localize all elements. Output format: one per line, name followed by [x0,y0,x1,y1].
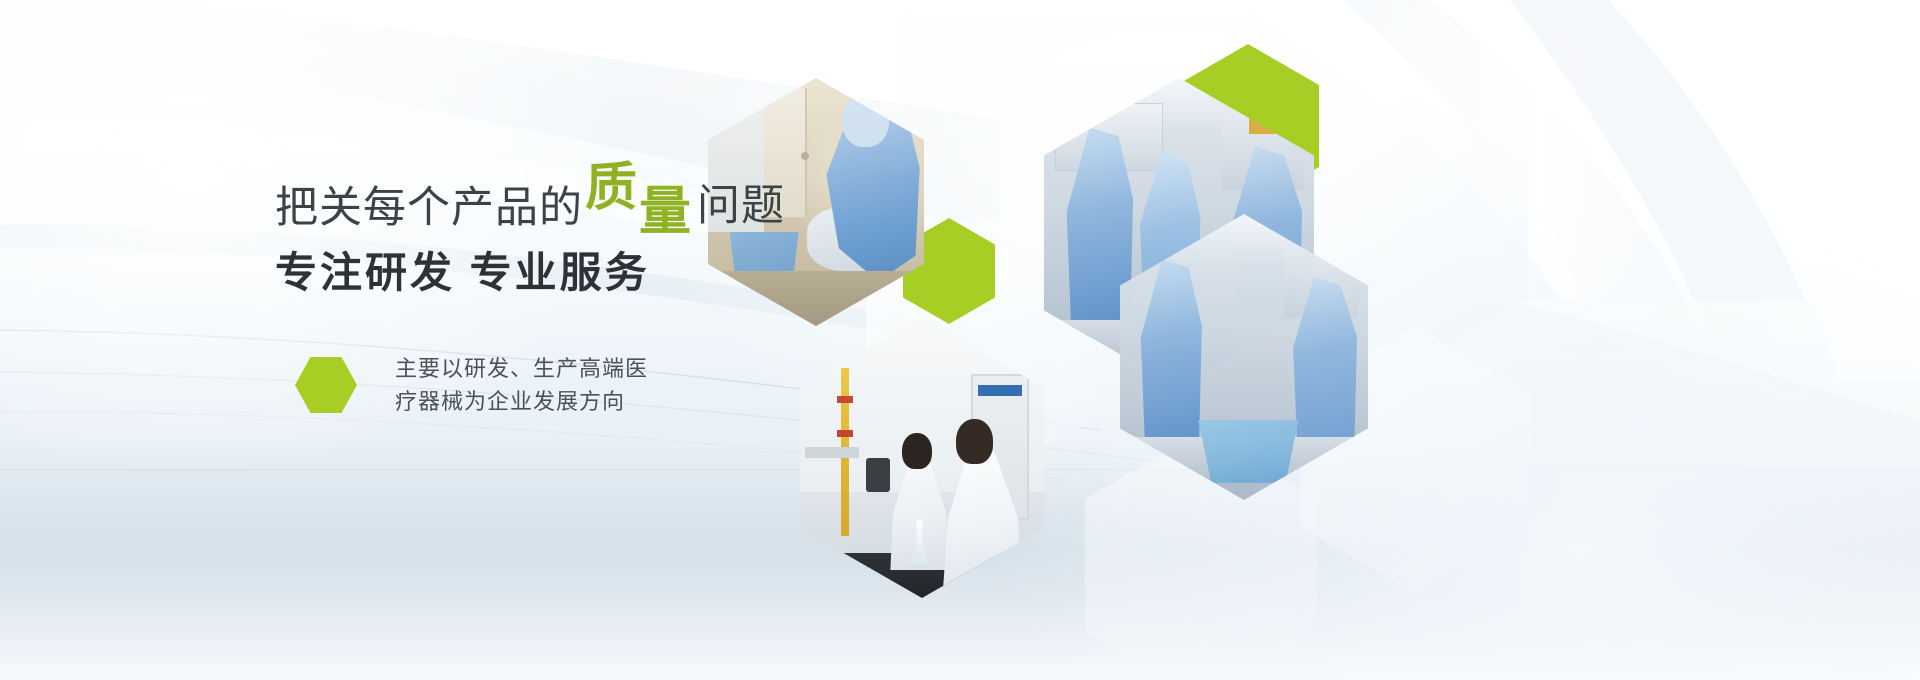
hero-text-block: 把关每个产品的 质 量 问题 专注研发 专业服务 [275,178,995,294]
hexagon-cluster [0,0,1920,680]
hexagon-bullet-icon [295,357,357,413]
hero-banner: 把关每个产品的 质 量 问题 专注研发 专业服务 主要以研发、生产高端医 疗器械… [0,0,1920,680]
subtitle-row: 主要以研发、生产高端医 疗器械为企业发展方向 [295,352,648,418]
subtitle-text: 主要以研发、生产高端医 疗器械为企业发展方向 [395,352,648,418]
headline-accent-liang: 量 [639,186,691,238]
headline-primary: 把关每个产品的 质 量 问题 [275,178,995,230]
headline-primary-prefix: 把关每个产品的 [275,187,583,230]
headline-primary-suffix: 问题 [697,185,785,228]
headline-secondary: 专注研发 专业服务 [275,252,995,294]
headline-accent-zhi: 质 [585,162,637,214]
